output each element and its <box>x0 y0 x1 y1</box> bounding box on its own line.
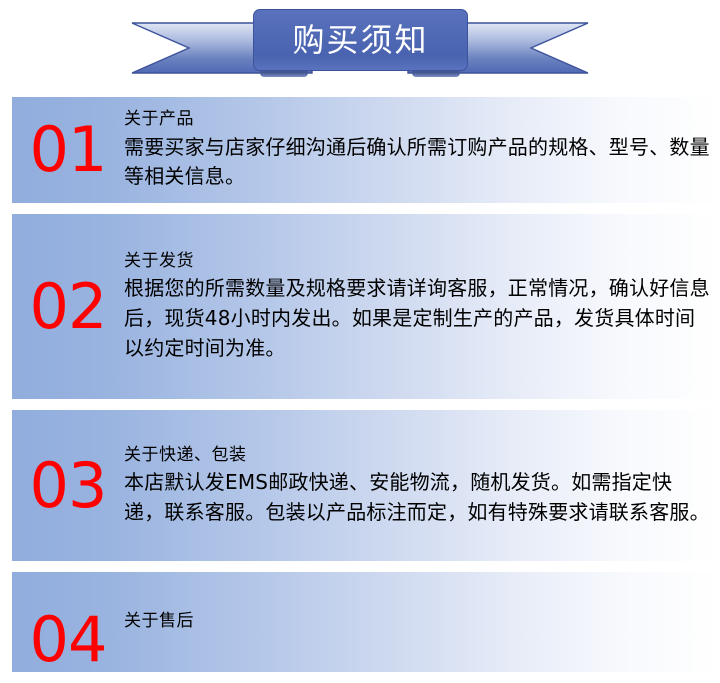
notice-section-03: 03 关于快递、包装 本店默认发EMS邮政快递、安能物流，随机发货。如需指定快递… <box>12 410 720 561</box>
section-number-04: 04 <box>12 611 124 668</box>
section-text-02: 根据您的所需数量及规格要求请详询客服，正常情况，确认好信息后，现货48小时内发出… <box>124 274 712 363</box>
section-heading-02: 关于发货 <box>124 249 712 274</box>
section-body-01: 关于产品 需要买家与店家仔细沟通后确认所需订购产品的规格、型号、数量等相关信息。 <box>124 98 720 202</box>
section-heading-04: 关于售后 <box>124 609 712 634</box>
section-body-02: 关于发货 根据您的所需数量及规格要求请详询客服，正常情况，确认好信息后，现货48… <box>124 240 720 373</box>
section-text-01: 需要买家与店家仔细沟通后确认所需订购产品的规格、型号、数量等相关信息。 <box>124 133 712 192</box>
section-number-01: 01 <box>12 121 124 178</box>
banner-plaque: 购买须知 <box>253 9 468 71</box>
section-heading-03: 关于快递、包装 <box>124 443 712 468</box>
section-number-03: 03 <box>12 457 124 514</box>
notice-section-02: 02 关于发货 根据您的所需数量及规格要求请详询客服，正常情况，确认好信息后，现… <box>12 214 720 399</box>
notice-section-01: 01 关于产品 需要买家与店家仔细沟通后确认所需订购产品的规格、型号、数量等相关… <box>12 97 720 203</box>
section-body-03: 关于快递、包装 本店默认发EMS邮政快递、安能物流，随机发货。如需指定快递，联系… <box>124 434 720 538</box>
page-title: 购买须知 <box>292 24 428 56</box>
section-body-04: 关于售后 <box>124 600 720 645</box>
section-number-02: 02 <box>12 278 124 335</box>
notice-sections-list: 01 关于产品 需要买家与店家仔细沟通后确认所需订购产品的规格、型号、数量等相关… <box>0 97 720 683</box>
banner: 购买须知 <box>0 0 720 97</box>
section-text-03: 本店默认发EMS邮政快递、安能物流，随机发货。如需指定快递，联系客服。包装以产品… <box>124 468 712 527</box>
section-heading-01: 关于产品 <box>124 107 712 132</box>
notice-section-04: 04 关于售后 <box>12 572 720 672</box>
